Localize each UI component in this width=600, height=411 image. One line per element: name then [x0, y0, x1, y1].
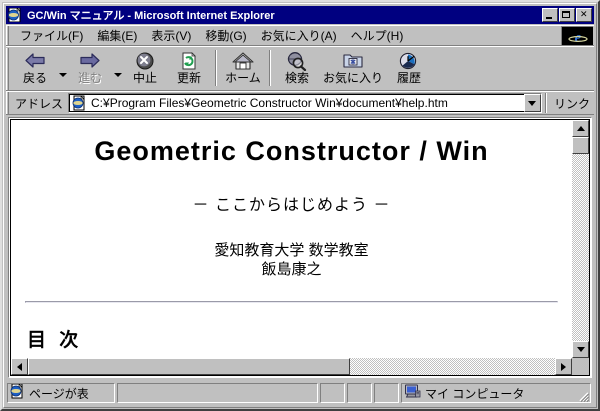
vertical-scrollbar-thumb[interactable] — [572, 137, 589, 154]
stop-button-label: 中止 — [133, 72, 157, 85]
title-bar[interactable]: GC/Win マニュアル - Microsoft Internet Explor… — [6, 6, 594, 24]
stop-icon — [134, 50, 156, 72]
links-button[interactable]: リンク — [550, 95, 594, 112]
my-computer-icon — [404, 384, 421, 402]
history-button[interactable]: 履歴 — [387, 48, 431, 88]
toolbar-separator-2 — [269, 50, 271, 86]
address-text: C:¥Program Files¥Geometric Constructor W… — [91, 96, 448, 110]
favorites-button[interactable]: お気に入り — [319, 48, 387, 88]
scroll-up-icon[interactable] — [572, 120, 589, 137]
addressbar-gripper[interactable] — [6, 92, 9, 114]
horizontal-rule — [25, 301, 558, 303]
status-panel-4 — [374, 383, 399, 403]
forward-button[interactable]: 進む — [68, 48, 112, 88]
history-button-label: 履歴 — [397, 72, 421, 85]
search-globe-icon — [286, 50, 308, 72]
horizontal-scrollbar[interactable] — [11, 358, 572, 375]
stop-button[interactable]: 中止 — [123, 48, 167, 88]
favorites-folder-icon — [341, 50, 365, 72]
scrollbar-corner — [572, 358, 589, 375]
menu-favorites[interactable]: お気に入り(A) — [254, 25, 344, 46]
html-page-content: Geometric Constructor / Win － ここからはじめよう … — [11, 120, 572, 358]
document-viewport: Geometric Constructor / Win － ここからはじめよう … — [10, 119, 590, 376]
minimize-button[interactable] — [542, 8, 558, 22]
security-zone-panel[interactable]: マイ コンピュータ — [401, 383, 591, 403]
search-button-label: 検索 — [285, 72, 309, 85]
chevron-down-icon[interactable] — [524, 94, 541, 112]
window-title: GC/Win マニュアル - Microsoft Internet Explor… — [27, 7, 541, 23]
home-icon — [231, 50, 255, 72]
page-title: Geometric Constructor / Win — [23, 136, 560, 167]
scroll-left-icon[interactable] — [11, 358, 28, 375]
refresh-button[interactable]: 更新 — [167, 48, 211, 88]
toolbar-gripper[interactable] — [6, 48, 9, 90]
back-arrow-icon — [23, 50, 47, 72]
history-clock-icon — [398, 50, 420, 72]
document-client-area: Geometric Constructor / Win － ここからはじめよう … — [8, 117, 592, 378]
favorites-button-label: お気に入り — [323, 72, 383, 85]
home-button-label: ホーム — [225, 72, 261, 85]
menu-go[interactable]: 移動(G) — [198, 25, 253, 46]
toolbar: 戻る 進む 中止 — [6, 46, 594, 91]
address-input[interactable]: C:¥Program Files¥Geometric Constructor W… — [69, 94, 524, 112]
status-panel-3 — [347, 383, 372, 403]
ie-document-icon — [72, 95, 88, 111]
menu-item-list: ファイル(F) 編集(E) 表示(V) 移動(G) お気に入り(A) ヘルプ(H… — [13, 26, 561, 45]
address-label: アドレス — [13, 95, 68, 112]
address-bar: アドレス C:¥Program Files¥Geometric Construc… — [6, 91, 594, 115]
back-button[interactable]: 戻る — [13, 48, 57, 88]
progress-panel — [117, 383, 318, 403]
status-panel-2 — [320, 383, 345, 403]
refresh-button-label: 更新 — [177, 72, 201, 85]
search-button[interactable]: 検索 — [275, 48, 319, 88]
ie-animated-logo[interactable]: e — [561, 26, 593, 45]
menu-bar: ファイル(F) 編集(E) 表示(V) 移動(G) お気に入り(A) ヘルプ(H… — [6, 25, 594, 46]
back-dropdown-arrow[interactable] — [57, 48, 68, 88]
close-button[interactable] — [576, 8, 592, 22]
horizontal-scrollbar-thumb[interactable] — [28, 358, 350, 375]
scroll-right-icon[interactable] — [555, 358, 572, 375]
forward-button-label: 進む — [78, 72, 102, 85]
page-subtitle: － ここからはじめよう － — [23, 191, 560, 215]
ie-document-icon — [8, 8, 24, 22]
affiliation-text: 愛知教育大学 数学教室 — [23, 241, 560, 260]
toolbar-separator — [215, 50, 217, 86]
svg-text:e: e — [574, 30, 581, 45]
author-name: 飯島康之 — [23, 260, 560, 279]
links-separator — [545, 93, 547, 113]
menu-edit[interactable]: 編集(E) — [90, 25, 144, 46]
vertical-scrollbar-track[interactable] — [572, 120, 589, 358]
home-button[interactable]: ホーム — [221, 48, 265, 88]
menu-file[interactable]: ファイル(F) — [13, 25, 90, 46]
menu-help[interactable]: ヘルプ(H) — [344, 25, 411, 46]
resize-grip[interactable] — [576, 389, 589, 402]
vertical-scrollbar[interactable] — [572, 120, 589, 358]
maximize-button[interactable] — [559, 8, 575, 22]
address-combobox[interactable]: C:¥Program Files¥Geometric Constructor W… — [68, 93, 542, 113]
browser-window: GC/Win マニュアル - Microsoft Internet Explor… — [0, 0, 600, 411]
toc-heading: 目 次 — [27, 325, 560, 352]
menubar-gripper[interactable] — [6, 26, 9, 45]
forward-arrow-icon — [78, 50, 102, 72]
back-button-label: 戻る — [23, 72, 47, 85]
security-zone-text: マイ コンピュータ — [425, 385, 524, 402]
menu-view[interactable]: 表示(V) — [144, 25, 198, 46]
status-bar: ページが表 マイ コンピュータ — [7, 382, 593, 404]
refresh-icon — [179, 50, 199, 72]
status-message-panel: ページが表 — [7, 383, 115, 403]
window-inner-frame: GC/Win マニュアル - Microsoft Internet Explor… — [3, 3, 597, 408]
forward-dropdown-arrow[interactable] — [112, 48, 123, 88]
page-author-block: 愛知教育大学 数学教室 飯島康之 — [23, 241, 560, 279]
ie-document-icon — [10, 384, 26, 402]
scroll-down-icon[interactable] — [572, 341, 589, 358]
status-text: ページが表 — [29, 385, 89, 402]
